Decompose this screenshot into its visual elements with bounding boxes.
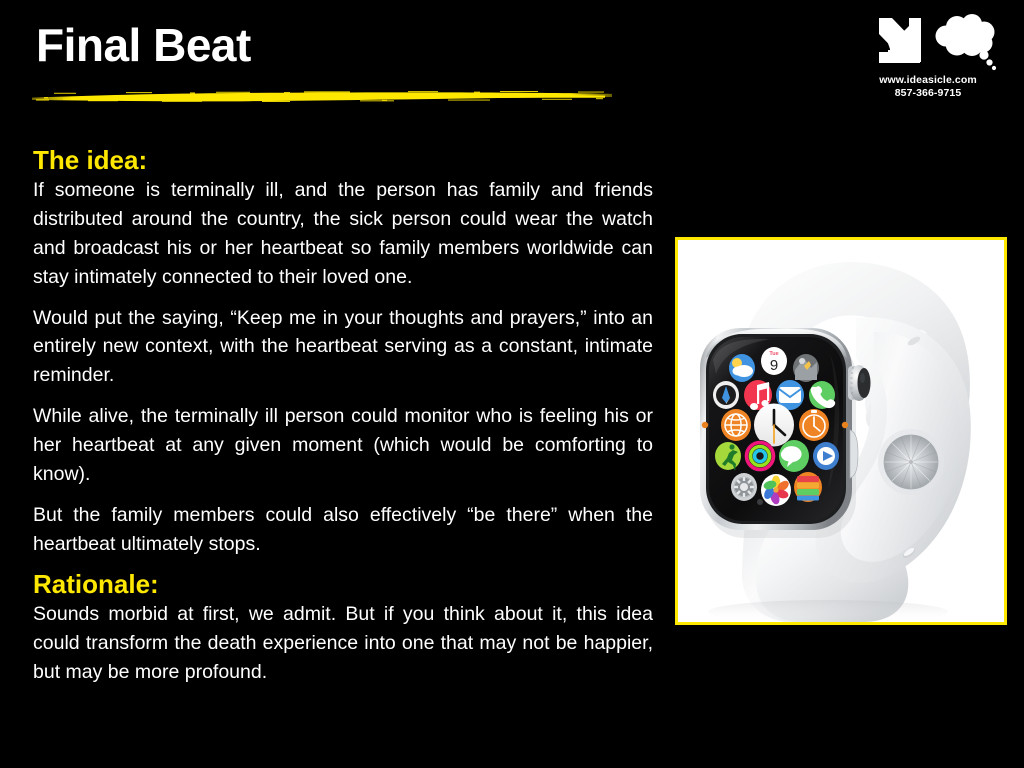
calendar-icon: Tue 9 — [761, 347, 787, 375]
title-underline-brushstroke — [30, 86, 614, 108]
logo-marks — [848, 14, 1008, 74]
thought-bubble-icon — [930, 14, 1000, 72]
idea-paragraph-1: If someone is terminally ill, and the pe… — [33, 176, 653, 291]
passbook-icon — [794, 472, 822, 502]
idea-paragraph-4: But the family members could also effect… — [33, 501, 653, 559]
logo-phone-number: 857-366-9715 — [848, 87, 1008, 100]
idea-heading: The idea: — [33, 146, 653, 174]
remote-icon — [813, 442, 839, 470]
apple-watch-photo: Tue 9 — [678, 240, 1004, 622]
rationale-paragraph-1: Sounds morbid at first, we admit. But if… — [33, 600, 653, 687]
weather-icon — [729, 354, 755, 382]
settings-icon — [731, 473, 757, 501]
band-metal-stud — [878, 429, 944, 495]
brand-logo: www.ideasicle.com 857-366-9715 — [848, 14, 1008, 100]
product-photo-frame: Tue 9 — [675, 237, 1007, 625]
rationale-heading: Rationale: — [33, 570, 653, 598]
idea-paragraph-2: Would put the saying, “Keep me in your t… — [33, 304, 653, 391]
activity-icon — [745, 440, 775, 472]
grid-dot-right — [842, 422, 848, 428]
digital-crown — [848, 365, 871, 401]
timer-icon — [799, 409, 829, 441]
svg-text:9: 9 — [770, 357, 778, 374]
maps-icon — [721, 409, 751, 441]
grid-dot-left — [702, 422, 708, 428]
arrow-down-right-icon — [876, 16, 924, 68]
phone-icon — [809, 381, 835, 409]
compass-icon — [713, 381, 739, 409]
camera-icon — [793, 354, 819, 382]
page-title: Final Beat — [36, 22, 251, 68]
messages-icon — [779, 440, 809, 472]
idea-paragraph-3: While alive, the terminally ill person c… — [33, 402, 653, 489]
photos-icon — [761, 474, 791, 506]
logo-website-url: www.ideasicle.com — [848, 74, 1008, 87]
content-column: The idea: If someone is terminally ill, … — [33, 146, 653, 687]
